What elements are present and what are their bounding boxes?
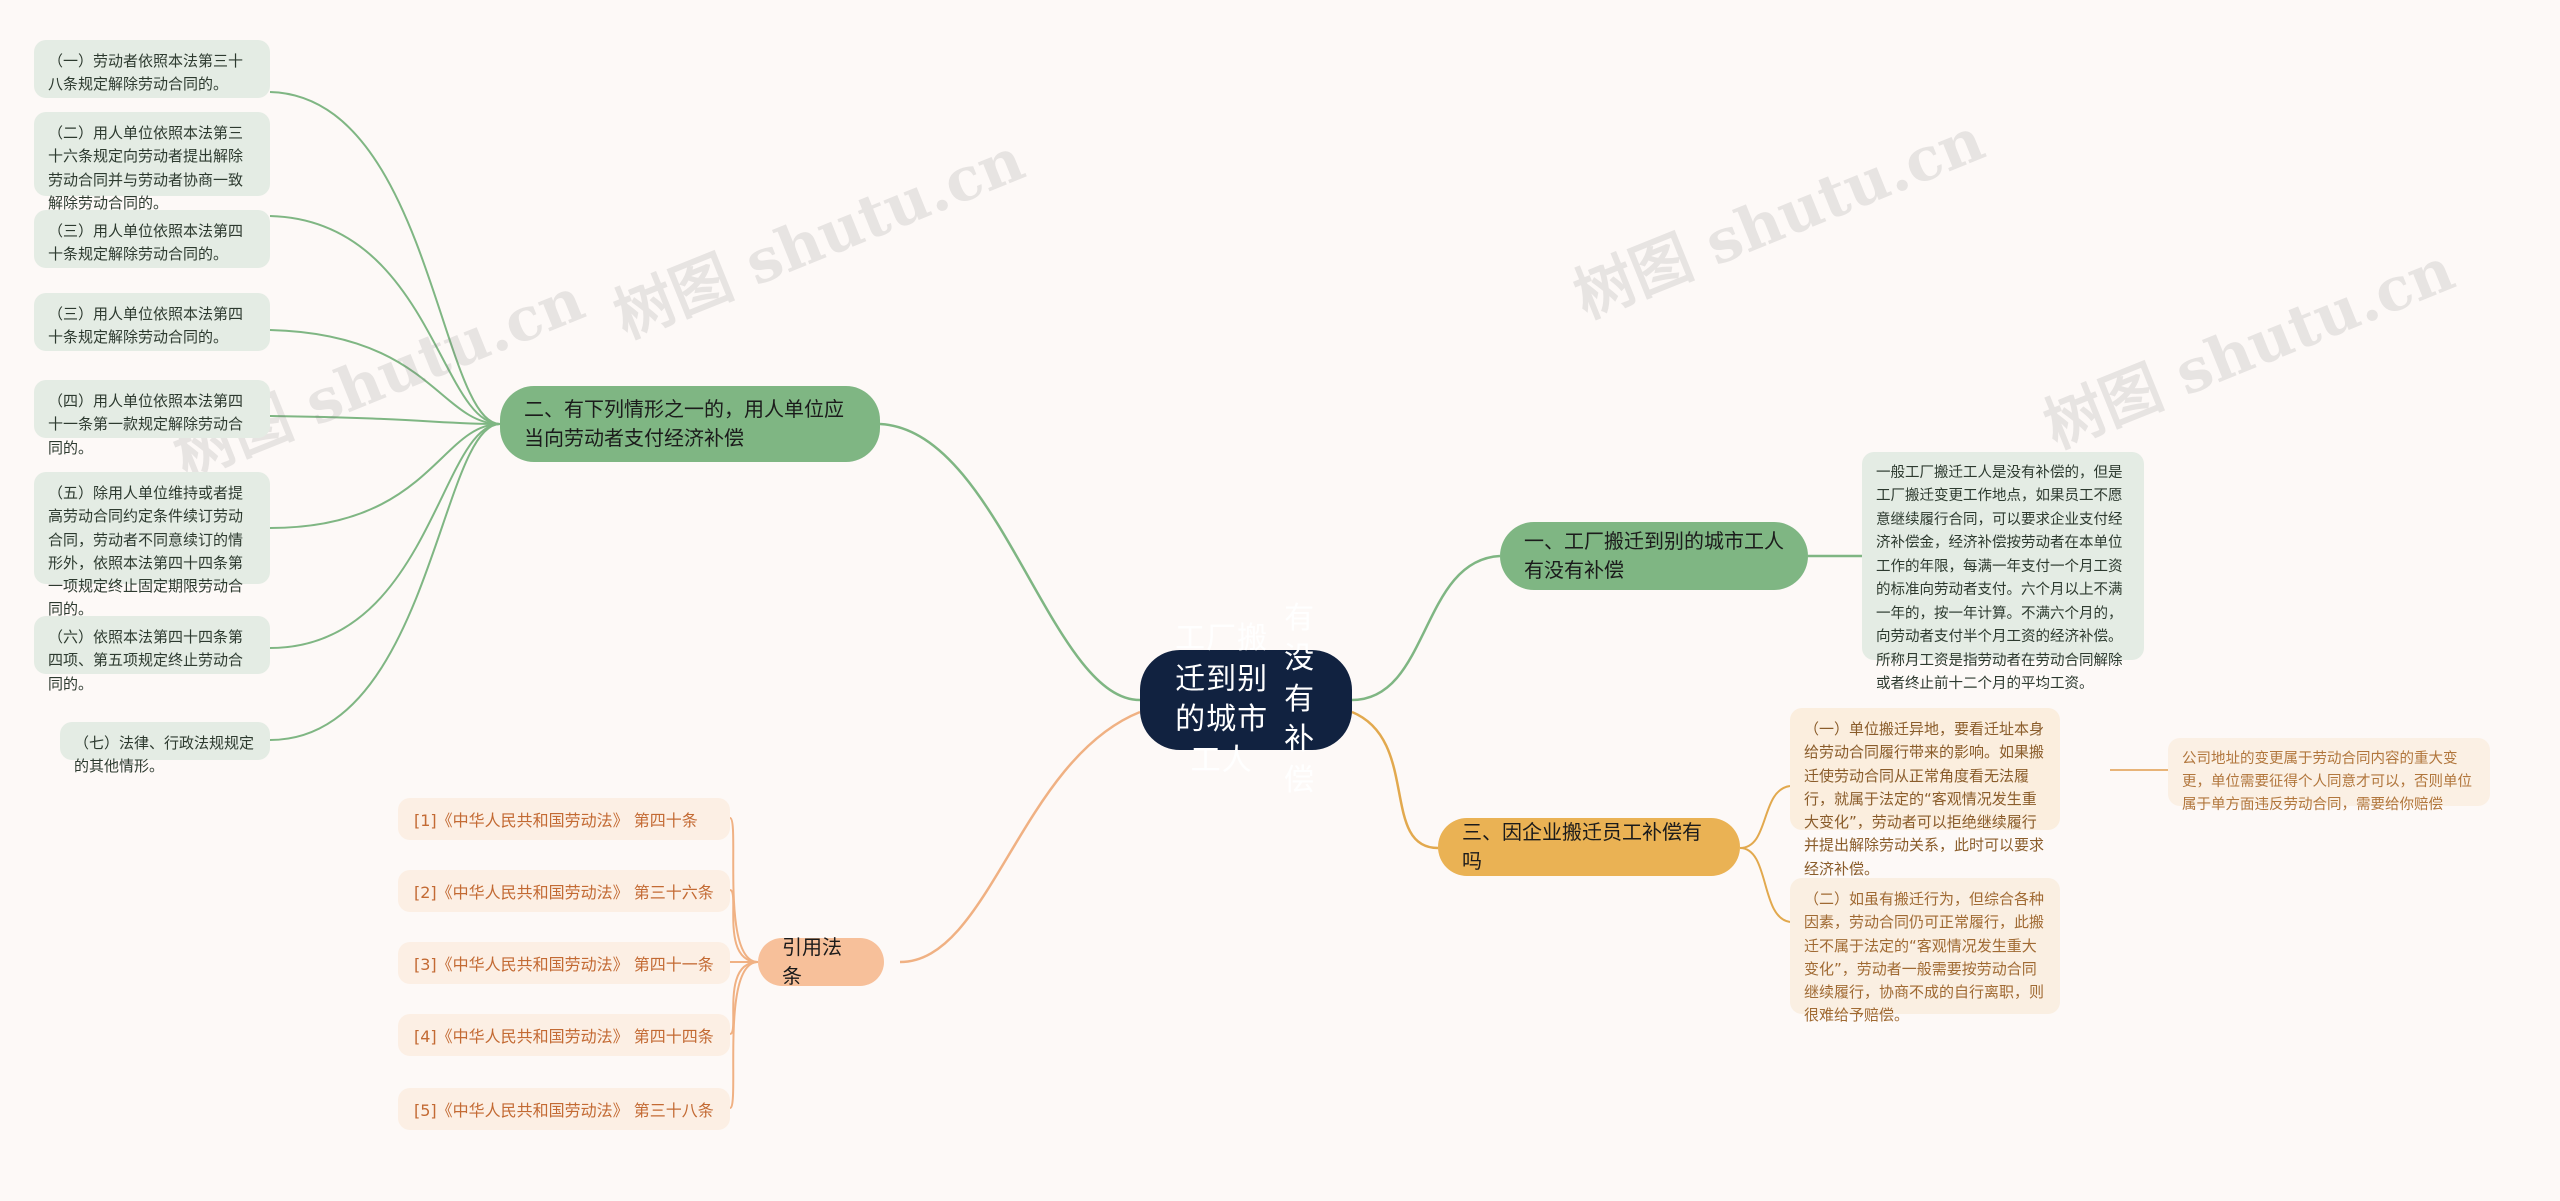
detail-box-address-change[interactable]: 公司地址的变更属于劳动合同内容的重大变更，单位需要征得个人同意才可以，否则单位属… <box>2168 738 2490 806</box>
branch-node-one[interactable]: 一、工厂搬迁到别的城市工人有没有补偿 <box>1500 522 1808 590</box>
branch-node-three[interactable]: 三、因企业搬迁员工补偿有吗 <box>1438 818 1740 876</box>
detail-box-three-part-2[interactable]: （二）如虽有搬迁行为，但综合各种因素，劳动合同仍可正常履行，此搬迁不属于法定的“… <box>1790 878 2060 1014</box>
list-item-clause-1[interactable]: （一）劳动者依照本法第三十八条规定解除劳动合同的。 <box>34 40 270 98</box>
list-item-clause-3[interactable]: （三）用人单位依照本法第四十条规定解除劳动合同的。 <box>34 293 270 351</box>
list-item-clause-6[interactable]: （六）依照本法第四十四条第四项、第五项规定终止劳动合同的。 <box>34 616 270 674</box>
list-item-clause-2[interactable]: （二）用人单位依照本法第三十六条规定向劳动者提出解除劳动合同并与劳动者协商一致解… <box>34 112 270 196</box>
list-item-clause-3b: （三）用人单位依照本法第四十条规定解除劳动合同的。 <box>34 210 270 268</box>
branch-node-citations[interactable]: 引用法条 <box>758 938 884 986</box>
list-item-clause-4[interactable]: （四）用人单位依照本法第四十一条第一款规定解除劳动合同的。 <box>34 380 270 438</box>
watermark: 树图 shutu.cn <box>1560 92 1995 335</box>
detail-box-three-part-1[interactable]: （一）单位搬迁异地，要看迁址本身给劳动合同履行带来的影响。如果搬迁使劳动合同从正… <box>1790 708 2060 830</box>
citation-item-4[interactable]: [4]《中华人民共和国劳动法》 第四十四条 <box>398 1014 730 1056</box>
mindmap-canvas: 树图 shutu.cn 树图 shutu.cn 树图 shutu.cn 树图 s… <box>0 0 2560 1201</box>
detail-box-one-compensation[interactable]: 一般工厂搬迁工人是没有补偿的，但是工厂搬迁变更工作地点，如果员工不愿意继续履行合… <box>1862 452 2144 660</box>
root-node[interactable]: 工厂搬迁到别的城市工人有没有补偿 <box>1140 650 1352 750</box>
list-item-clause-7[interactable]: （七）法律、行政法规规定的其他情形。 <box>60 722 270 760</box>
branch-node-two[interactable]: 二、有下列情形之一的，用人单位应当向劳动者支付经济补偿 <box>500 386 880 462</box>
watermark: 树图 shutu.cn <box>600 112 1035 355</box>
citation-item-3[interactable]: [3]《中华人民共和国劳动法》 第四十一条 <box>398 942 730 984</box>
list-item-clause-5[interactable]: （五）除用人单位维持或者提高劳动合同约定条件续订劳动合同，劳动者不同意续订的情形… <box>34 472 270 584</box>
citation-item-5[interactable]: [5]《中华人民共和国劳动法》 第三十八条 <box>398 1088 730 1130</box>
citation-item-2[interactable]: [2]《中华人民共和国劳动法》 第三十六条 <box>398 870 730 912</box>
citation-item-1[interactable]: [1]《中华人民共和国劳动法》 第四十条 <box>398 798 730 840</box>
watermark: 树图 shutu.cn <box>2030 222 2465 465</box>
